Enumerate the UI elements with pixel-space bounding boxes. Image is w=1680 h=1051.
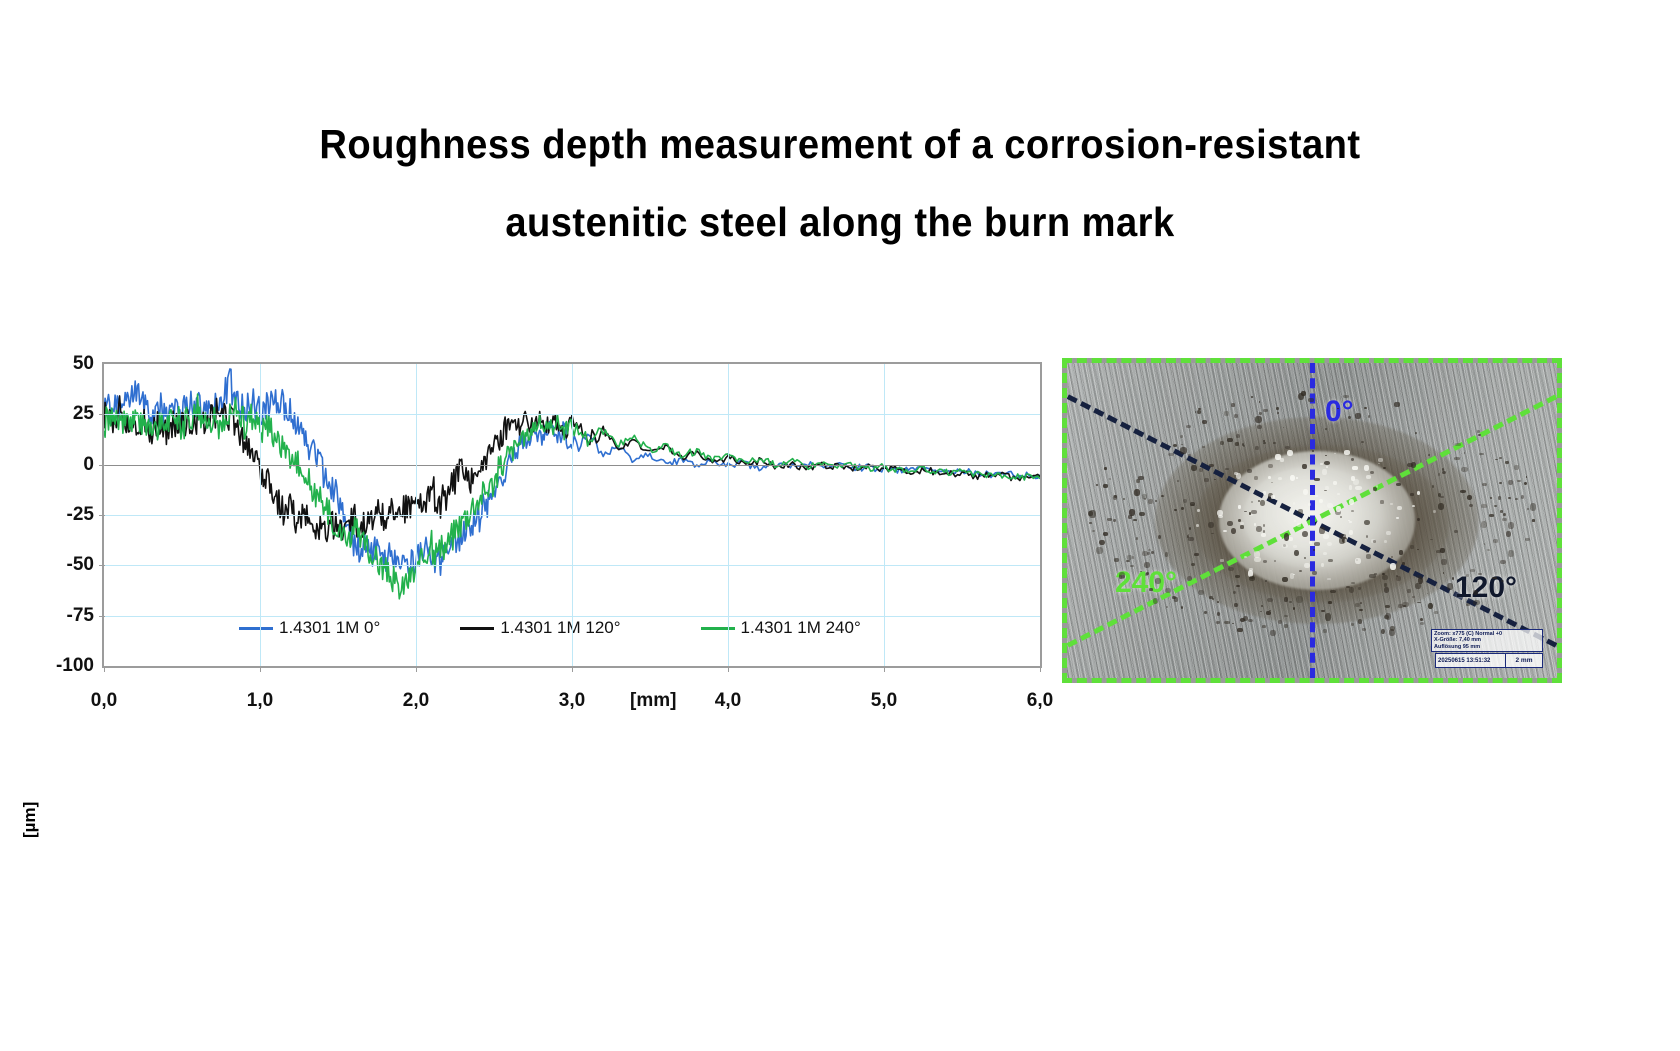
burn-speck <box>1503 513 1506 516</box>
burn-speck <box>1319 527 1325 534</box>
burn-speck <box>1256 526 1262 532</box>
burn-speck <box>1165 552 1169 556</box>
burn-speck <box>1209 464 1214 467</box>
burn-speck <box>1506 531 1511 537</box>
y-tick-mark <box>99 565 105 566</box>
legend-label: 1.4301 1M 120° <box>500 618 620 638</box>
burn-speck <box>1374 573 1376 574</box>
burn-speck <box>1216 621 1220 624</box>
burn-speck <box>1188 537 1193 541</box>
burn-speck <box>1489 514 1494 517</box>
angle-label-0: 0° <box>1325 395 1354 429</box>
x-tick-mark <box>416 666 417 672</box>
burn-speck <box>1391 556 1393 558</box>
burn-speck <box>1089 510 1095 518</box>
burn-speck <box>1396 517 1398 520</box>
burn-speck <box>1289 601 1292 603</box>
burn-speck <box>1197 410 1201 414</box>
capture-timestamp: 20250615 13:51:32 <box>1436 654 1505 667</box>
burn-speck <box>1147 552 1150 555</box>
burn-speck <box>1315 495 1318 497</box>
chart-legend: 1.4301 1M 0°1.4301 1M 120°1.4301 1M 240° <box>239 614 1039 642</box>
burn-speck <box>1280 458 1284 462</box>
burn-speck <box>1410 493 1414 496</box>
burn-speck <box>1139 512 1145 516</box>
burn-speck <box>1390 563 1396 570</box>
burn-speck <box>1268 464 1272 469</box>
burn-speck <box>1455 443 1460 446</box>
burn-speck <box>1270 630 1276 636</box>
burn-speck <box>1228 567 1234 571</box>
burn-speck <box>1113 495 1117 501</box>
burn-speck <box>1321 563 1324 567</box>
burn-speck <box>1390 503 1393 505</box>
burn-speck <box>1177 480 1179 482</box>
x-tick-label: 0,0 <box>91 690 117 712</box>
burn-speck <box>1296 596 1302 603</box>
burn-speck <box>1362 628 1366 631</box>
burn-speck <box>1447 583 1452 590</box>
y-tick-label: 25 <box>73 403 94 425</box>
x-tick-mark <box>728 666 729 672</box>
burn-speck <box>1322 469 1327 475</box>
burn-speck <box>1304 563 1310 569</box>
burn-speck <box>1181 606 1184 609</box>
burn-speck <box>1384 587 1389 593</box>
burn-speck <box>1532 519 1535 521</box>
burn-speck <box>1133 519 1137 521</box>
burn-speck <box>1440 548 1445 553</box>
burn-speck <box>1188 454 1191 456</box>
burn-speck <box>1168 453 1174 456</box>
y-tick-label: -50 <box>67 554 94 576</box>
burn-speck <box>1234 414 1238 419</box>
burn-speck <box>1352 466 1358 470</box>
burn-speck <box>1389 629 1395 636</box>
burn-speck <box>1180 447 1187 454</box>
burn-speck <box>1114 558 1119 562</box>
burn-speck <box>1501 580 1504 583</box>
x-axis-label: [mm] <box>630 690 676 712</box>
burn-speck <box>1333 481 1337 484</box>
burn-speck <box>1508 550 1514 557</box>
burn-speck <box>1481 521 1487 528</box>
burn-speck <box>1220 559 1223 562</box>
burn-speck <box>1284 597 1288 601</box>
x-tick-mark <box>104 666 105 672</box>
page-title: Roughness depth measurement of a corrosi… <box>0 105 1680 261</box>
burn-speck <box>1325 486 1329 490</box>
x-tick-label: 1,0 <box>247 690 273 712</box>
burn-speck <box>1323 552 1327 555</box>
burn-speck <box>1314 542 1320 546</box>
y-tick-label: -100 <box>56 655 94 677</box>
burn-speck <box>1394 402 1400 407</box>
burn-speck <box>1460 490 1466 493</box>
legend-swatch-icon <box>701 627 735 630</box>
burn-speck <box>1285 446 1290 449</box>
burn-speck <box>1498 496 1501 500</box>
burn-speck <box>1244 511 1246 512</box>
burn-speck <box>1220 441 1225 444</box>
burn-speck <box>1325 428 1327 430</box>
burn-speck <box>1266 611 1271 615</box>
burn-speck <box>1470 569 1475 572</box>
legend-item-1[interactable]: 1.4301 1M 120° <box>460 618 620 638</box>
burn-speck <box>1434 611 1437 613</box>
micrograph-image: 0° 120° 240° Zoom: x775 (C) Normal +0 X-… <box>1067 363 1557 678</box>
burn-speck <box>1415 432 1417 434</box>
burn-speck <box>1271 482 1273 483</box>
x-tick-label: 3,0 <box>559 690 585 712</box>
burn-speck <box>1251 510 1257 514</box>
burn-speck <box>1153 598 1158 604</box>
burn-speck <box>1351 458 1354 461</box>
burn-speck <box>1466 574 1468 577</box>
burn-speck <box>1313 549 1315 551</box>
burn-speck <box>1410 545 1414 548</box>
x-tick-label: 6,0 <box>1027 690 1053 712</box>
burn-speck <box>1191 465 1197 471</box>
burn-speck <box>1259 412 1262 415</box>
burn-speck <box>1366 554 1371 558</box>
burn-speck <box>1302 464 1307 470</box>
burn-speck <box>1235 575 1240 578</box>
burn-speck <box>1385 605 1390 608</box>
burn-speck <box>1204 611 1207 614</box>
burn-speck <box>1294 550 1299 556</box>
burn-speck <box>1142 494 1147 499</box>
burn-speck <box>1309 541 1312 543</box>
y-tick-label: -75 <box>67 605 94 627</box>
burn-speck <box>1144 562 1150 568</box>
burn-speck <box>1351 623 1354 626</box>
scale-bar-label: 2 mm <box>1505 654 1542 667</box>
burn-speck <box>1197 509 1200 512</box>
y-tick-mark <box>99 616 105 617</box>
gridline-x-1 <box>260 364 261 666</box>
micrograph-metadata-overlay: Zoom: x775 (C) Normal +0 X-Größe: 7,40 m… <box>1431 629 1543 652</box>
burn-speck <box>1174 509 1177 511</box>
burn-speck <box>1398 604 1403 608</box>
burn-speck <box>1277 412 1279 414</box>
burn-speck <box>1130 565 1134 568</box>
burn-speck <box>1227 438 1232 442</box>
plot-area: 1.4301 1M 0°1.4301 1M 120°1.4301 1M 240°… <box>102 362 1042 668</box>
burn-speck <box>1196 524 1199 527</box>
x-tick-label: 4,0 <box>715 690 741 712</box>
burn-speck <box>1234 603 1238 607</box>
burn-speck <box>1261 533 1266 537</box>
burn-speck <box>1505 461 1509 464</box>
burn-speck <box>1297 523 1301 527</box>
burn-speck <box>1134 489 1140 496</box>
burn-speck <box>1235 442 1239 446</box>
micrograph-scale-row: 20250615 13:51:32 2 mm <box>1435 653 1543 668</box>
burn-speck <box>1248 619 1254 622</box>
burn-speck <box>1089 522 1092 524</box>
burn-speck <box>1278 620 1282 624</box>
burn-speck <box>1337 408 1339 410</box>
burn-speck <box>1113 519 1116 522</box>
burn-speck <box>1323 629 1326 633</box>
burn-speck <box>1402 602 1408 607</box>
burn-speck <box>1271 495 1275 499</box>
burn-speck <box>1104 467 1107 469</box>
burn-speck <box>1202 420 1207 424</box>
burn-speck <box>1344 450 1350 454</box>
burn-speck <box>1257 425 1263 429</box>
burn-speck <box>1482 483 1487 487</box>
burn-speck <box>1251 396 1253 398</box>
burn-speck <box>1284 615 1288 617</box>
burn-speck <box>1349 521 1352 523</box>
burn-speck <box>1320 463 1323 465</box>
burn-mark-micrograph: 0° 120° 240° Zoom: x775 (C) Normal +0 X-… <box>1062 358 1562 683</box>
burn-speck <box>1487 549 1490 551</box>
y-tick-label: 50 <box>73 353 94 375</box>
burn-speck <box>1138 476 1143 480</box>
burn-speck <box>1254 551 1260 557</box>
roughness-chart: [µm] 1.4301 1M 0°1.4301 1M 120°1.4301 1M… <box>18 348 1058 738</box>
burn-speck <box>1217 510 1223 516</box>
burn-speck <box>1273 442 1276 444</box>
legend-label: 1.4301 1M 240° <box>741 618 861 638</box>
burn-speck <box>1240 525 1244 529</box>
burn-speck <box>1396 483 1401 486</box>
burn-speck <box>1180 435 1183 438</box>
burn-speck <box>1302 531 1308 538</box>
burn-speck <box>1360 602 1362 604</box>
burn-speck <box>1254 476 1258 479</box>
burn-speck <box>1399 550 1403 555</box>
burn-speck <box>1340 516 1342 518</box>
burn-speck <box>1412 596 1415 598</box>
burn-speck <box>1172 596 1176 600</box>
x-tick-mark <box>1040 666 1041 672</box>
burn-speck <box>1190 502 1194 507</box>
burn-speck <box>1227 521 1233 526</box>
burn-speck <box>1467 495 1472 500</box>
burn-speck <box>1123 498 1125 500</box>
legend-swatch-icon <box>460 627 494 630</box>
burn-speck <box>1298 509 1303 514</box>
burn-speck <box>1308 503 1311 506</box>
y-axis-label: [µm] <box>20 818 40 838</box>
burn-speck <box>1397 506 1402 511</box>
burn-speck <box>1499 482 1502 485</box>
burn-speck <box>1312 450 1314 452</box>
burn-speck <box>1369 574 1375 577</box>
burn-speck <box>1430 539 1432 540</box>
burn-speck <box>1151 551 1154 554</box>
burn-speck <box>1380 500 1384 504</box>
burn-speck <box>1355 486 1361 490</box>
burn-speck <box>1238 505 1241 508</box>
burn-speck <box>1500 560 1506 564</box>
burn-speck <box>1202 446 1205 448</box>
legend-item-2[interactable]: 1.4301 1M 240° <box>701 618 861 638</box>
burn-speck <box>1525 538 1530 541</box>
burn-speck <box>1096 547 1103 554</box>
burn-speck <box>1132 556 1134 558</box>
x-tick-label: 5,0 <box>871 690 897 712</box>
burn-speck <box>1260 500 1265 506</box>
burn-speck <box>1293 574 1295 575</box>
burn-speck <box>1224 411 1228 416</box>
y-tick-mark <box>99 465 105 466</box>
burn-speck <box>1263 409 1267 412</box>
burn-speck <box>1355 413 1361 419</box>
burn-speck <box>1225 468 1229 470</box>
burn-speck <box>1155 578 1161 584</box>
burn-speck <box>1384 583 1387 587</box>
burn-speck <box>1461 467 1467 472</box>
burn-speck <box>1325 613 1331 621</box>
burn-speck <box>1263 442 1266 444</box>
metadata-resolution: Auflösung 95 mm <box>1434 644 1540 650</box>
gridline-x-3 <box>572 364 573 666</box>
burn-speck <box>1284 533 1290 540</box>
x-tick-mark <box>884 666 885 672</box>
burn-speck <box>1441 559 1447 565</box>
burn-speck <box>1396 576 1401 581</box>
burn-speck <box>1359 609 1363 611</box>
burn-speck <box>1366 475 1372 479</box>
burn-speck <box>1282 577 1288 582</box>
y-tick-label: 0 <box>83 454 94 476</box>
burn-speck <box>1263 491 1266 495</box>
burn-speck <box>1149 588 1153 590</box>
burn-speck <box>1247 469 1252 473</box>
angle-label-120: 120° <box>1455 571 1517 605</box>
burn-speck <box>1255 416 1261 423</box>
burn-speck <box>1326 466 1328 468</box>
y-tick-label: -25 <box>67 504 94 526</box>
burn-speck <box>1231 403 1235 407</box>
burn-speck <box>1183 499 1187 503</box>
gridline-x-4 <box>728 364 729 666</box>
burn-speck <box>1304 557 1306 559</box>
burn-speck <box>1148 499 1153 504</box>
burn-speck <box>1119 575 1122 579</box>
burn-speck <box>1224 621 1229 624</box>
x-tick-mark <box>572 666 573 672</box>
burn-speck <box>1378 463 1380 464</box>
burn-speck <box>1366 550 1368 552</box>
burn-speck <box>1484 543 1486 545</box>
burn-speck <box>1199 468 1203 472</box>
burn-speck <box>1473 600 1479 605</box>
burn-speck <box>1243 445 1245 447</box>
burn-speck <box>1146 572 1149 576</box>
gridline-x-5 <box>884 364 885 666</box>
burn-speck <box>1355 603 1360 607</box>
burn-speck <box>1420 622 1424 625</box>
burn-speck <box>1298 393 1304 400</box>
burn-speck <box>1237 628 1242 633</box>
burn-speck <box>1327 578 1331 580</box>
burn-speck <box>1353 479 1359 485</box>
burn-speck <box>1249 576 1255 580</box>
burn-speck <box>1481 504 1486 508</box>
burn-speck <box>1103 532 1108 536</box>
burn-speck <box>1155 500 1158 502</box>
burn-speck <box>1478 573 1482 575</box>
burn-speck <box>1284 624 1288 627</box>
y-tick-mark <box>99 414 105 415</box>
burn-speck <box>1262 625 1265 627</box>
burn-speck <box>1382 575 1388 580</box>
burn-speck <box>1402 562 1405 564</box>
burn-speck <box>1438 503 1444 510</box>
burn-speck <box>1349 530 1353 536</box>
burn-speck <box>1337 493 1340 495</box>
burn-speck <box>1107 518 1112 521</box>
x-tick-mark <box>260 666 261 672</box>
page-title-line-1: Roughness depth measurement of a corrosi… <box>59 105 1621 183</box>
y-tick-mark <box>99 515 105 516</box>
burn-speck <box>1165 588 1170 593</box>
burn-speck <box>1417 491 1420 495</box>
gridline-x-2 <box>416 364 417 666</box>
burn-speck <box>1492 577 1496 579</box>
burn-speck <box>1204 478 1209 482</box>
legend-swatch-icon <box>239 627 273 630</box>
burn-speck <box>1407 589 1410 592</box>
burn-speck <box>1293 502 1296 505</box>
burn-speck <box>1378 458 1383 462</box>
burn-speck <box>1433 510 1436 513</box>
burn-speck <box>1328 601 1332 604</box>
burn-speck <box>1217 612 1221 616</box>
burn-speck <box>1254 523 1256 526</box>
legend-label: 1.4301 1M 0° <box>279 618 380 638</box>
burn-speck <box>1194 553 1199 556</box>
burn-speck <box>1530 503 1536 511</box>
burn-speck <box>1428 603 1433 609</box>
burn-speck <box>1358 619 1363 623</box>
burn-speck <box>1508 480 1513 485</box>
angle-line-0 <box>1310 363 1315 678</box>
burn-speck <box>1249 568 1253 571</box>
burn-speck <box>1128 515 1132 519</box>
burn-speck <box>1276 407 1279 410</box>
burn-speck <box>1096 484 1098 486</box>
burn-speck <box>1508 522 1514 529</box>
burn-speck <box>1515 498 1517 499</box>
burn-speck <box>1299 570 1302 572</box>
burn-speck <box>1355 558 1361 564</box>
x-tick-label: 2,0 <box>403 690 429 712</box>
burn-speck <box>1314 478 1319 481</box>
burn-speck <box>1308 398 1314 402</box>
burn-speck <box>1341 534 1346 538</box>
burn-speck <box>1198 590 1204 595</box>
page-title-line-2: austenitic steel along the burn mark <box>59 183 1621 261</box>
burn-speck <box>1323 534 1329 539</box>
burn-speck <box>1321 610 1324 612</box>
burn-speck <box>1479 453 1483 455</box>
burn-speck <box>1336 506 1341 511</box>
burn-speck <box>1186 425 1191 428</box>
